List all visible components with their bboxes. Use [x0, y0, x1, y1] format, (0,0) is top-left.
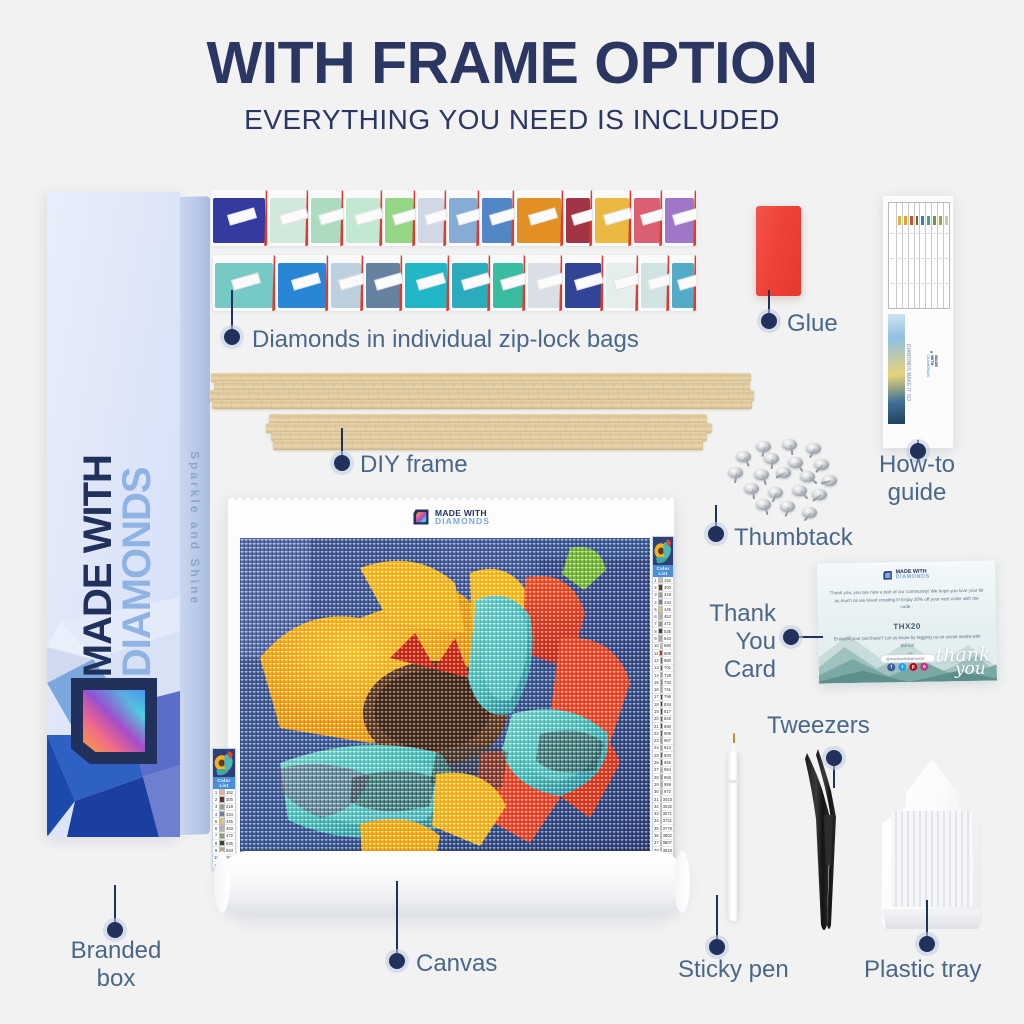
legend-row-swatch: [660, 832, 662, 838]
legend-row-number: 11: [654, 651, 658, 656]
rolled-canvas: [218, 851, 686, 913]
branded-box-leader: [114, 885, 116, 927]
legend-row-number: 15: [654, 680, 659, 685]
legend-row: 343721: [653, 818, 673, 825]
legend-row-code: 946: [664, 760, 672, 765]
legend-row-number: 16: [654, 687, 659, 692]
diy-frame-dot: [334, 455, 350, 471]
thumbtack: [788, 457, 803, 468]
legend-row: 18834: [653, 701, 673, 708]
legend-row-swatch: [660, 818, 662, 824]
glue-dot: [761, 313, 777, 329]
infographic-canvas: WITH FRAME OPTION EVERYTHING YOU NEED IS…: [0, 0, 1024, 1024]
card-message: Thank you, you are now a part of our com…: [829, 587, 983, 612]
sticky-pen-leader: [716, 895, 718, 943]
thumbtack: [728, 467, 743, 478]
thumbtack: [756, 441, 771, 452]
legend-row-swatch: [219, 789, 225, 795]
zip-bag: [593, 190, 631, 246]
callout-diy-frame: DIY frame: [360, 451, 468, 479]
legend-row-code: 920: [664, 753, 672, 758]
zip-bag: [447, 190, 479, 246]
legend-row-swatch: [660, 796, 662, 802]
legend-row-number: 12: [654, 658, 659, 663]
zip-bag: [480, 190, 514, 246]
legend-row-swatch: [660, 708, 663, 714]
zip-bag: [383, 190, 415, 246]
legend-row-number: 27: [654, 767, 659, 772]
branded-box-dot: [107, 922, 123, 938]
legend-row-number: 2: [654, 585, 657, 590]
legend-row-code: 817: [664, 709, 672, 714]
zip-bag: [276, 255, 328, 311]
legend-row: 363802: [653, 832, 673, 839]
tray-lip: [882, 909, 982, 929]
box-brand-line2: DIAMONDS: [118, 257, 157, 677]
legend-row: 23907: [653, 738, 673, 745]
legend-row-swatch: [660, 789, 663, 795]
callout-branded-box: Branded box: [60, 937, 172, 993]
card-script-thankyou: thank you: [936, 648, 991, 678]
guide-brand-logo: MADE WITH DIAMONDS: [919, 351, 945, 377]
legend-row-code: 3807: [663, 840, 673, 845]
zip-bag: [564, 190, 592, 246]
thumbtack-dot: [708, 526, 724, 542]
facebook-icon[interactable]: f: [887, 663, 895, 671]
thumbtack: [736, 451, 751, 462]
legend-row-swatch: [660, 759, 663, 765]
legend-row-number: 26: [654, 760, 659, 765]
legend-title: Color List: [653, 565, 673, 577]
frame-stick: [273, 440, 703, 450]
legend-row-code: 300: [664, 585, 672, 590]
thumbtack: [822, 475, 837, 486]
legend-row-code: 3023: [663, 797, 673, 802]
legend-row-number: 36: [654, 833, 659, 838]
legend-row-code: 3776: [663, 826, 673, 831]
guide-cover-photo: [888, 314, 905, 424]
legend-row-swatch: [660, 730, 663, 736]
legend-row-swatch: [658, 613, 663, 619]
canvas-leader: [396, 881, 398, 957]
legend-row-code: 453: [226, 826, 234, 831]
card-brand-logo: MADE WITH DIAMONDS: [883, 570, 930, 582]
legend-row-swatch: [219, 833, 225, 839]
legend-row-swatch: [660, 716, 663, 722]
legend-row: 3318: [213, 804, 235, 811]
legend-row: 5445: [213, 818, 235, 825]
legend-row: 353776: [653, 825, 673, 832]
legend-row-code: 434: [226, 812, 234, 817]
thumbtack-pile: [714, 437, 854, 527]
legend-row-code: 3721: [663, 818, 673, 823]
sticky-pen: [726, 733, 742, 923]
legend-row-swatch: [660, 643, 663, 649]
legend-row-swatch: [660, 825, 662, 831]
legend-row: 28958: [653, 774, 673, 781]
how-to-guide: MADE WITH DIAMONDS DIAMONDS MAKE IT SO: [883, 196, 953, 448]
thumbtack: [802, 507, 817, 518]
zip-bag: [563, 255, 603, 311]
plastic-tray-leader: [926, 900, 928, 940]
legend-row-number: 35: [654, 826, 659, 831]
thank-you-card-dot: [783, 629, 799, 645]
legend-row-number: 10: [654, 643, 659, 648]
legend-row-number: 1: [214, 790, 218, 795]
legend-row-swatch: [219, 818, 225, 824]
zip-bag: [526, 255, 562, 311]
legend-row-code: 3802: [663, 833, 673, 838]
box-front-face: MADE WITH DIAMONDS: [47, 192, 180, 837]
branded-box: MADE WITH DIAMONDS Sparkle and Shine: [47, 192, 212, 837]
instagram-icon[interactable]: o: [920, 663, 928, 671]
pinterest-icon[interactable]: p: [909, 663, 917, 671]
legend-row: 16741: [653, 686, 673, 693]
legend-row: 6453: [213, 825, 235, 832]
legend-row-code: 318: [226, 804, 234, 809]
zip-bag: [403, 255, 449, 311]
thumbtack: [780, 501, 795, 512]
canvas-artwork: [240, 538, 650, 856]
pen-tip-icon: [733, 733, 735, 743]
legend-row-number: 9: [214, 848, 218, 853]
legend-row-swatch: [660, 701, 663, 707]
diamond-logo-icon: [71, 678, 157, 764]
thumbtack: [776, 467, 791, 478]
zip-bag: [604, 255, 638, 311]
zip-bag: [450, 255, 490, 311]
zip-bag: [344, 190, 382, 246]
legend-row-number: 6: [654, 614, 657, 619]
legend-row-code: 912: [664, 745, 672, 750]
callout-zip-bags: Diamonds in individual zip-lock bags: [252, 326, 639, 354]
legend-row-number: 19: [654, 709, 659, 714]
legend-row-number: 7: [654, 621, 657, 626]
box-side-face: Sparkle and Shine: [180, 196, 210, 835]
tweezers-icon: [800, 745, 850, 940]
legend-row-code: 318: [664, 592, 672, 597]
legend-row: 29959: [653, 781, 673, 788]
diamond-logo-icon: [928, 351, 937, 353]
page-title: WITH FRAME OPTION: [0, 34, 1024, 93]
legend-row-code: 958: [664, 775, 672, 780]
color-legend-right: Color List 11522300331844345445645374728…: [652, 536, 674, 870]
zip-bag: [211, 190, 267, 246]
twitter-icon[interactable]: t: [898, 663, 906, 671]
canvas-dot: [389, 953, 405, 969]
legend-row-swatch: [660, 774, 663, 780]
legend-row: 8535: [213, 840, 235, 847]
legend-row-number: 4: [654, 600, 657, 605]
box-tagline: Sparkle and Shine: [188, 451, 202, 606]
card-brand-line2: DIAMONDS: [896, 575, 930, 581]
tray-ribs: [891, 811, 973, 907]
legend-row-swatch: [219, 811, 225, 817]
tweezers: [800, 745, 850, 940]
legend-row-swatch: [219, 796, 225, 802]
legend-row-number: 6: [214, 826, 218, 831]
legend-row-number: 1: [654, 578, 657, 583]
box-brand-name: MADE WITH DIAMONDS: [79, 257, 157, 677]
legend-row-swatch: [660, 723, 663, 729]
legend-row-number: 32: [654, 804, 659, 809]
legend-row: 4434: [213, 811, 235, 818]
thank-you-card: MADE WITH DIAMONDS Thank you, you are no…: [817, 560, 997, 683]
zip-bag: [515, 190, 563, 246]
legend-row-number: 29: [654, 782, 659, 787]
legend-row-number: 3: [654, 592, 657, 597]
thumbtack: [756, 499, 771, 510]
legend-row-number: 37: [654, 840, 659, 845]
thumbtack: [812, 489, 827, 500]
legend-row-code: 445: [226, 819, 234, 824]
thumbtack: [792, 485, 807, 496]
legend-row-code: 954: [664, 767, 672, 772]
zip-bag: [309, 190, 343, 246]
legend-row-swatch: [658, 621, 663, 627]
legend-row: 313023: [653, 796, 673, 803]
sticky-pen-dot: [709, 939, 725, 955]
legend-row: 373807: [653, 840, 673, 847]
legend-row-swatch: [658, 628, 663, 634]
glue-stick: [756, 206, 801, 296]
legend-row: 30972: [653, 789, 673, 796]
legend-row-number: 23: [654, 738, 659, 743]
legend-row-number: 18: [654, 702, 659, 707]
legend-title: Color List: [213, 777, 235, 789]
zip-bag: [670, 255, 696, 311]
legend-row: 26946: [653, 759, 673, 766]
legend-row-number: 22: [654, 731, 659, 736]
legend-row: 323032: [653, 803, 673, 810]
thumbtack: [800, 471, 815, 482]
legend-row: 7472: [213, 833, 235, 840]
zip-bag: [213, 255, 275, 311]
legend-row-swatch: [658, 635, 663, 641]
legend-row-code: 543: [226, 848, 234, 853]
legend-row-number: 20: [654, 716, 659, 721]
legend-row-swatch: [660, 737, 663, 743]
legend-row-swatch: [659, 650, 663, 656]
legend-row-number: 3: [214, 804, 218, 809]
plastic-tray-dot: [919, 936, 935, 952]
legend-row-swatch: [660, 672, 663, 678]
legend-row-code: 3032: [663, 804, 673, 809]
page-subtitle: EVERYTHING YOU NEED IS INCLUDED: [0, 106, 1024, 134]
callout-canvas: Canvas: [416, 950, 497, 978]
callout-thumbtack: Thumbtack: [734, 524, 853, 552]
legend-row: 333071: [653, 811, 673, 818]
legend-row-code: 152: [664, 578, 672, 583]
zip-bag: [491, 255, 525, 311]
legend-row-swatch: [660, 657, 663, 663]
legend-row-swatch: [658, 584, 663, 590]
legend-row-swatch: [660, 694, 663, 700]
legend-row: 24912: [653, 745, 673, 752]
guide-brand-line2: DIAMONDS: [926, 355, 930, 377]
legend-row-number: 9: [654, 636, 657, 641]
legend-row-number: 7: [214, 833, 218, 838]
legend-row: 21890: [653, 723, 673, 730]
legend-row: 27954: [653, 767, 673, 774]
legend-row-swatch: [660, 752, 663, 758]
thumbtack: [764, 453, 779, 464]
legend-row-number: 8: [214, 841, 218, 846]
legend-row-number: 2: [214, 797, 218, 802]
callout-tweezers: Tweezers: [767, 712, 870, 740]
legend-row-code: 796: [664, 694, 672, 699]
legend-row: 2300: [213, 796, 235, 803]
callout-sticky-pen: Sticky pen: [678, 956, 789, 984]
legend-row-number: 8: [654, 629, 657, 634]
card-script-line2: you: [950, 663, 991, 677]
thumbtack: [806, 443, 821, 454]
guide-side-text: DIAMONDS MAKE IT SO: [905, 344, 911, 401]
zip-bag-row-bottom: [213, 255, 696, 311]
legend-row-number: 21: [654, 724, 659, 729]
legend-row-number: 28: [654, 775, 659, 780]
frame-stick: [212, 400, 752, 409]
legend-row-swatch: [219, 825, 225, 831]
canvas-print: MADE WITH DIAMONDS: [228, 500, 674, 870]
legend-row-number: 34: [654, 818, 659, 823]
legend-row: 17796: [653, 694, 673, 701]
thumbtack: [754, 469, 769, 480]
legend-row-number: 31: [654, 797, 659, 802]
zip-bags-dot: [224, 329, 240, 345]
callout-glue: Glue: [787, 310, 838, 338]
legend-row-swatch: [660, 745, 663, 751]
legend-row-swatch: [658, 577, 663, 583]
legend-row-swatch: [658, 599, 663, 605]
legend-row-number: 14: [654, 673, 659, 678]
legend-thumbnail: [213, 749, 235, 777]
legend-row-number: 33: [654, 811, 659, 816]
box-brand-line1: MADE WITH: [79, 257, 118, 677]
diamond-logo-icon: [412, 508, 430, 526]
plastic-tray: [882, 759, 982, 929]
legend-row-swatch: [219, 840, 225, 846]
guide-brand-line1: MADE WITH: [930, 355, 938, 377]
legend-row-code: 890: [664, 724, 672, 729]
zip-bag: [639, 255, 669, 311]
legend-row-number: 5: [654, 607, 657, 612]
legend-row-code: 472: [226, 833, 234, 838]
legend-row-code: 972: [664, 789, 672, 794]
legend-row-swatch: [658, 592, 663, 598]
zip-bag: [268, 190, 308, 246]
legend-row-code: 535: [226, 841, 234, 846]
legend-row: 2300: [653, 584, 673, 591]
zip-bag-row-top: [211, 190, 696, 246]
legend-row-code: 825: [664, 716, 672, 721]
callout-how-to-guide: How-to guide: [858, 451, 976, 507]
zip-bag: [329, 255, 363, 311]
thumbtack: [744, 483, 759, 494]
legend-row-swatch: [660, 767, 663, 773]
legend-row-code: 152: [226, 790, 234, 795]
diamond-logo-icon: [883, 571, 893, 581]
legend-row-swatch: [658, 606, 663, 612]
thumbtack: [782, 439, 797, 450]
canvas-brand-line2: DIAMONDS: [435, 517, 490, 526]
zip-bags-leader: [231, 290, 233, 333]
legend-row-code: 3071: [663, 811, 673, 816]
zip-bag: [663, 190, 696, 246]
legend-row: 3318: [653, 592, 673, 599]
legend-row: 1152: [653, 577, 673, 584]
legend-thumbnail: [653, 537, 673, 565]
legend-row-code: 300: [226, 797, 234, 802]
legend-row: 19817: [653, 708, 673, 715]
legend-row-swatch: [660, 810, 662, 816]
legend-row-swatch: [660, 840, 662, 846]
legend-row-number: 30: [654, 789, 659, 794]
legend-row-swatch: [660, 665, 663, 671]
legend-row-code: 907: [664, 738, 672, 743]
callout-plastic-tray: Plastic tray: [864, 956, 981, 984]
legend-row-number: 5: [214, 819, 218, 824]
guide-color-chart: [888, 202, 950, 309]
legend-row-code: 959: [664, 782, 672, 787]
legend-row: 25920: [653, 752, 673, 759]
tweezers-dot: [826, 750, 842, 766]
callout-thank-you-card: Thank You Card: [666, 600, 776, 683]
thumbtack: [768, 487, 783, 498]
legend-row-swatch: [660, 781, 663, 787]
legend-row: 22906: [653, 730, 673, 737]
legend-row-swatch: [660, 803, 662, 809]
legend-row-number: 25: [654, 753, 659, 758]
canvas-brand-logo: MADE WITH DIAMONDS: [412, 508, 490, 526]
legend-row-number: 13: [654, 665, 659, 670]
thumbtack: [814, 459, 829, 470]
legend-row-number: 4: [214, 812, 218, 817]
legend-row-swatch: [660, 686, 663, 692]
legend-row-number: 24: [654, 745, 659, 750]
artwork-diamond-dots: [240, 538, 650, 856]
zip-bag: [632, 190, 662, 246]
card-social-icons: f t p o: [887, 663, 928, 672]
legend-row-swatch: [219, 804, 225, 810]
legend-row-number: 17: [654, 694, 659, 699]
legend-row: 1152: [213, 789, 235, 796]
legend-row: 20825: [653, 716, 673, 723]
zip-bag: [364, 255, 402, 311]
legend-row-swatch: [660, 679, 663, 685]
legend-row-code: 834: [664, 702, 672, 707]
legend-row-code: 906: [664, 731, 672, 736]
zip-bag: [416, 190, 446, 246]
legend-row-code: 741: [664, 687, 672, 692]
